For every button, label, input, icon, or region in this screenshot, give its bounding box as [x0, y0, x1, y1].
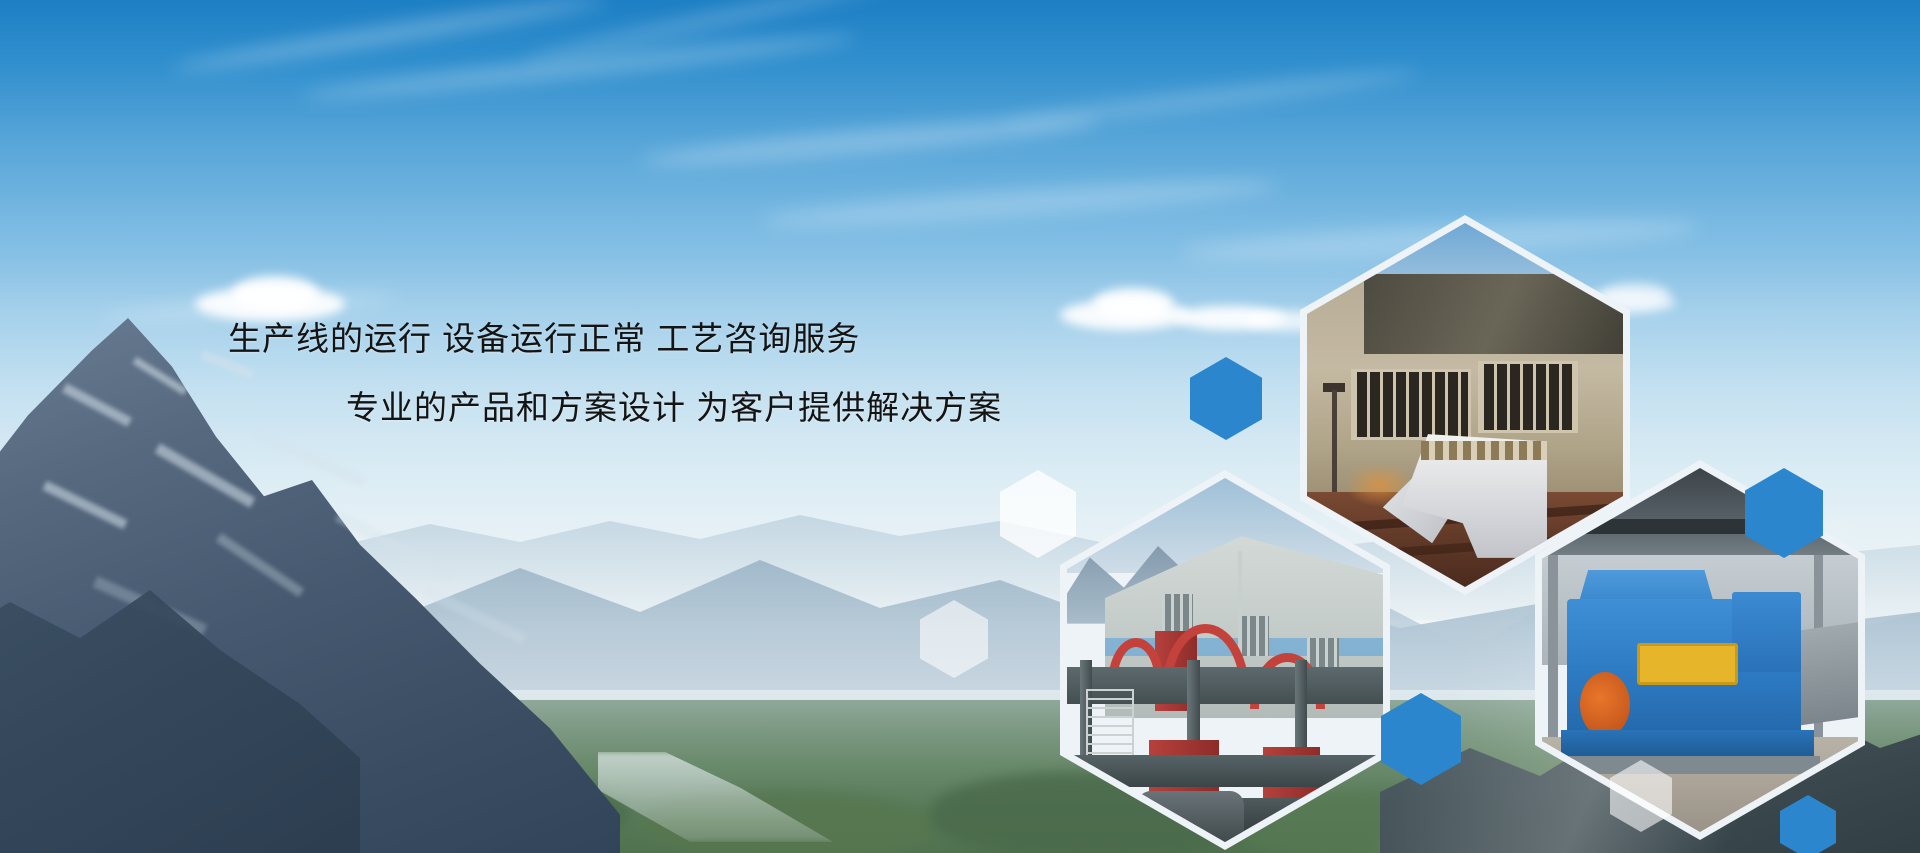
cloud-puff [232, 276, 318, 310]
photo-pole [1332, 390, 1337, 492]
photo-machine-cab [1732, 592, 1802, 672]
photo-yellow-panel [1637, 643, 1738, 685]
hero-banner: 生产线的运行 设备运行正常 工艺咨询服务 专业的产品和方案设计 为客户提供解决方… [0, 0, 1920, 853]
photo-window-bars [1354, 372, 1468, 438]
cloud-puff [1093, 288, 1173, 318]
headline-line-2: 专业的产品和方案设计 为客户提供解决方案 [346, 391, 1228, 424]
photo-window [1351, 369, 1471, 441]
photo-support-pole [1548, 555, 1557, 737]
headline-line-1: 生产线的运行 设备运行正常 工艺咨询服务 [228, 322, 1228, 355]
photo-machine-skid [1555, 756, 1820, 774]
photo-window [1478, 361, 1579, 433]
photo-window-bars [1481, 364, 1576, 430]
photo-window [1238, 616, 1270, 656]
headline-block: 生产线的运行 设备运行正常 工艺咨询服务 专业的产品和方案设计 为客户提供解决方… [228, 322, 1228, 424]
photo-machine-bolts [1421, 441, 1547, 459]
